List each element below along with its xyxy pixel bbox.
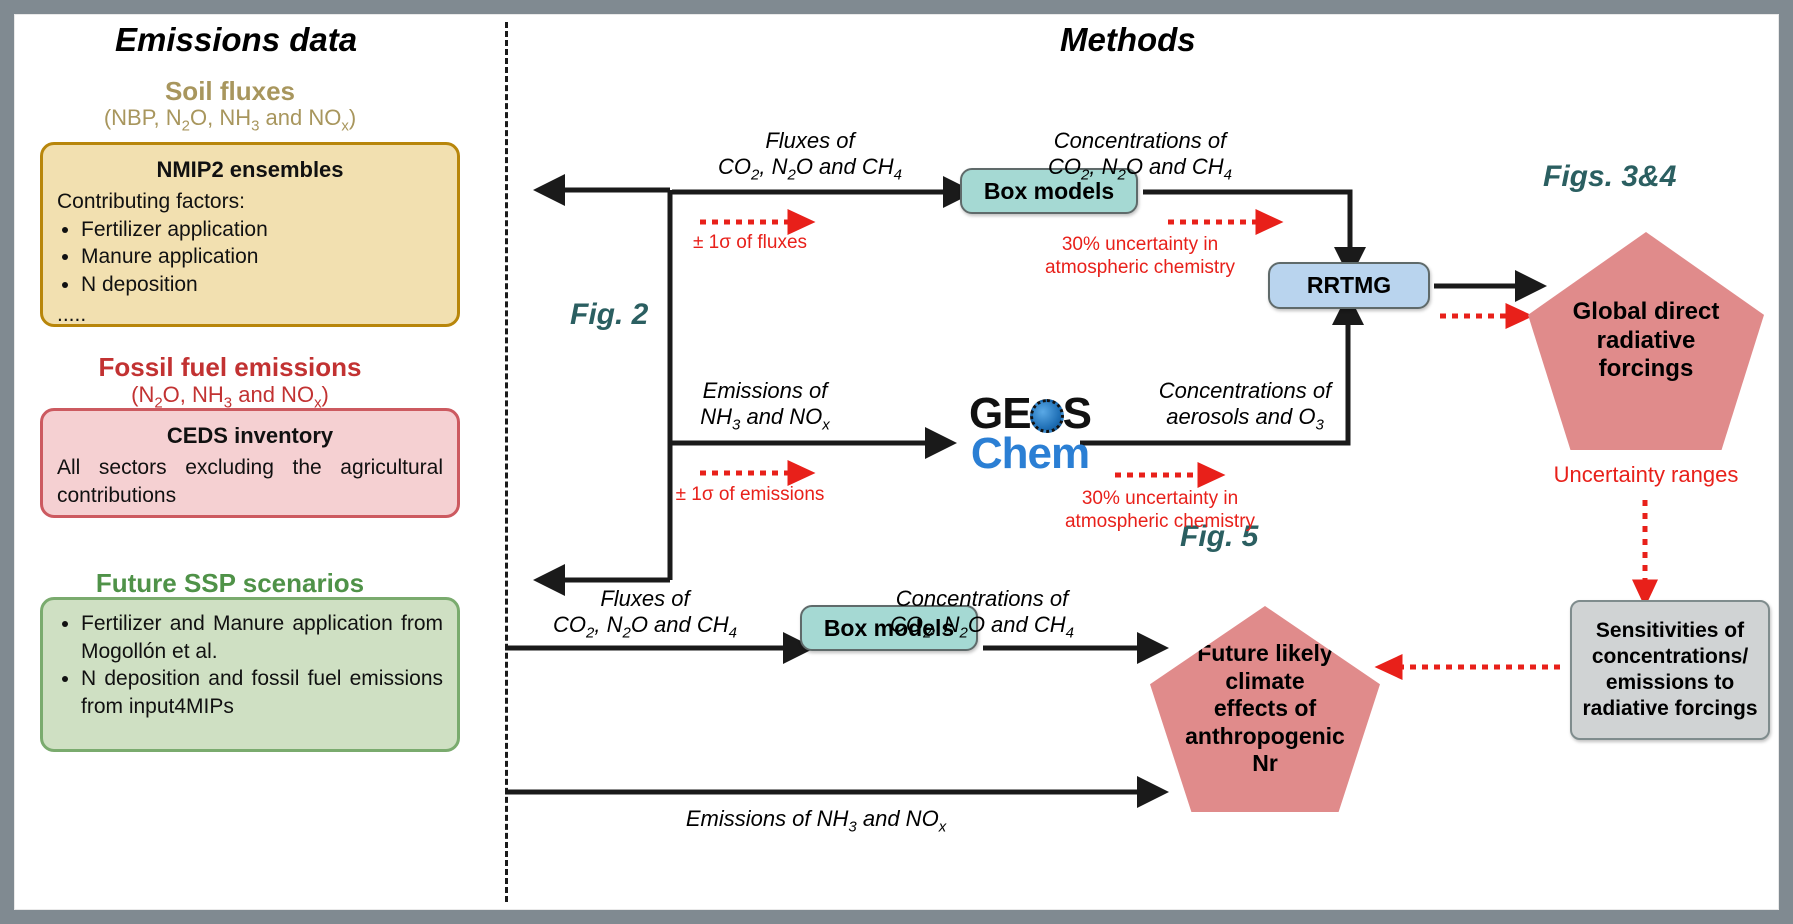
row3-flux-label: Fluxes of CO2, N2O and CH4 — [500, 586, 790, 643]
row2-uncertainty-label: ± 1σ of emissions — [640, 484, 860, 507]
rrtmg-label: RRTMG — [1307, 272, 1391, 299]
nmip2-ensembles-box: NMIP2 ensembles Contributing factors: Fe… — [40, 142, 460, 327]
ceds-box-title: CEDS inventory — [57, 421, 443, 450]
row1-out-label: Concentrations of CO2, N2O and CH4 — [975, 128, 1305, 185]
list-item: Manure application — [81, 243, 443, 271]
row1-uncertainty-label: ± 1σ of fluxes — [655, 232, 845, 255]
nmip2-bullet-list: Fertilizer application Manure applicatio… — [81, 216, 443, 299]
nmip2-box-title: NMIP2 ensembles — [57, 155, 443, 184]
figure-canvas: Emissions data Methods Soil fluxes (NBP,… — [0, 0, 1793, 924]
sensitivities-label: Sensitivities of concentrations/ emissio… — [1582, 618, 1757, 723]
nmip2-ellipsis: ..... — [57, 301, 443, 329]
geos-globe-icon — [1030, 399, 1064, 433]
geos-chem-logo-bottom: Chem — [940, 432, 1120, 476]
header-methods: Methods — [1060, 21, 1196, 59]
rrtmg-process[interactable]: RRTMG — [1268, 262, 1430, 309]
section-title-soil-fluxes: Soil fluxes — [0, 76, 460, 107]
future-climate-effects-label: Future likely climate effects of anthrop… — [1173, 640, 1357, 778]
vertical-dashed-divider — [505, 22, 508, 902]
row1-flux-label: Fluxes of CO2, N2O and CH4 — [660, 128, 960, 185]
row1-out-uncertainty-label: 30% uncertainty in atmospheric chemistry — [1015, 234, 1265, 280]
section-title-fossil-fuel-emissions: Fossil fuel emissions — [0, 352, 460, 383]
header-emissions-data: Emissions data — [115, 21, 357, 59]
ceds-inventory-box: CEDS inventory All sectors excluding the… — [40, 408, 460, 518]
uncertainty-ranges-label: Uncertainty ranges — [1528, 462, 1764, 488]
section-subtitle-fossil-fuel-emissions: (N2O, NH3 and NOx) — [0, 382, 460, 411]
future-ssp-box: Fertilizer and Manure application from M… — [40, 597, 460, 752]
row2-out-label: Concentrations of aerosols and O3 — [1090, 378, 1400, 435]
sensitivities-box: Sensitivities of concentrations/ emissio… — [1570, 600, 1770, 740]
list-item: N deposition and fossil fuel emissions f… — [81, 665, 443, 720]
section-title-future-ssp-scenarios: Future SSP scenarios — [0, 568, 460, 599]
row2-emissions-label: Emissions of NH3 and NOx — [640, 378, 890, 435]
nmip2-box-intro: Contributing factors: — [57, 190, 245, 213]
fig2-label: Fig. 2 — [570, 298, 648, 332]
fig34-label: Figs. 3&4 — [1543, 160, 1676, 194]
ssp-bullet-list: Fertilizer and Manure application from M… — [81, 610, 443, 721]
list-item: Fertilizer application — [81, 216, 443, 244]
list-item: Fertilizer and Manure application from M… — [81, 610, 443, 665]
list-item: N deposition — [81, 271, 443, 299]
ceds-box-body: All sectors excluding the agricultural c… — [57, 454, 443, 509]
row2-out-uncertainty-label: 30% uncertainty in atmospheric chemistry — [1035, 488, 1285, 534]
section-subtitle-soil-fluxes: (NBP, N2O, NH3 and NOx) — [0, 105, 460, 134]
row3-bottom-label: Emissions of NH3 and NOx — [596, 806, 1036, 836]
row3-out-label: Concentrations of CO2, N2O and CH4 — [812, 586, 1152, 643]
global-radiative-forcings-label: Global direct radiative forcings — [1553, 298, 1740, 384]
